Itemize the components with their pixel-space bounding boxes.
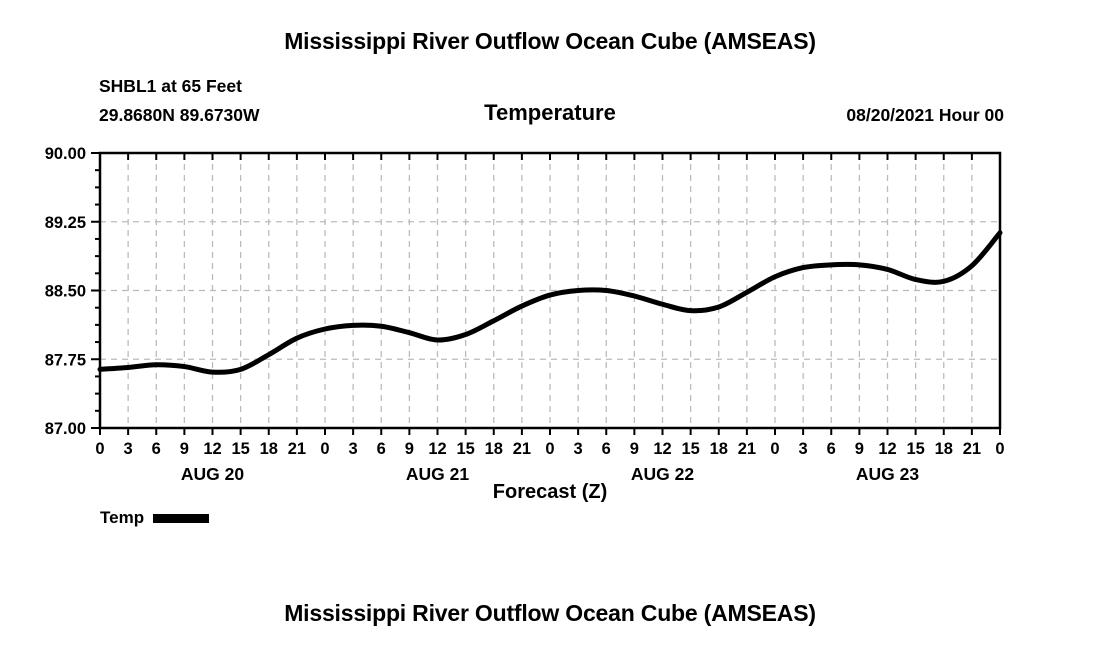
x-tick-label: 9 [180, 440, 189, 458]
x-tick-label: 18 [935, 440, 953, 458]
x-tick-label: 6 [602, 440, 611, 458]
x-tick-label: 0 [320, 440, 329, 458]
legend-swatch-temp [153, 514, 209, 523]
x-tick-label: 9 [855, 440, 864, 458]
x-tick-label: 12 [878, 440, 896, 458]
x-tick-label: 18 [260, 440, 278, 458]
x-tick-label: 15 [456, 440, 474, 458]
x-tick-label: 12 [203, 440, 221, 458]
x-tick-label: 6 [377, 440, 386, 458]
x-tick-label: 15 [681, 440, 699, 458]
gridlines [100, 153, 1000, 428]
chart-page: Mississippi River Outflow Ocean Cube (AM… [0, 0, 1100, 650]
x-tick-label: 15 [231, 440, 249, 458]
x-tick-label: 9 [630, 440, 639, 458]
page-title-bottom: Mississippi River Outflow Ocean Cube (AM… [0, 600, 1100, 627]
legend-label-temp: Temp [100, 508, 144, 528]
x-tick-label: 0 [770, 440, 779, 458]
x-tick-label: 15 [906, 440, 924, 458]
x-tick-label: 3 [124, 440, 133, 458]
x-tick-label: 0 [95, 440, 104, 458]
legend: Temp [100, 508, 209, 528]
x-tick-label: 3 [574, 440, 583, 458]
x-tick-label: 12 [428, 440, 446, 458]
y-tick-label: 87.00 [45, 420, 86, 438]
x-tick-label: 0 [995, 440, 1004, 458]
chart-plot: 87.0087.7588.5089.2590.00 03691215182103… [0, 0, 1100, 650]
x-tick-label: 0 [545, 440, 554, 458]
x-axis-label: Forecast (Z) [0, 481, 1100, 504]
y-tick-label: 88.50 [45, 283, 86, 301]
x-tick-label: 18 [710, 440, 728, 458]
x-tick-label: 6 [827, 440, 836, 458]
y-tick-label: 90.00 [45, 145, 86, 163]
y-axis-ticks: 87.0087.7588.5089.2590.00 [45, 145, 100, 438]
y-tick-label: 89.25 [45, 214, 86, 232]
x-tick-label: 18 [485, 440, 503, 458]
x-tick-label: 6 [152, 440, 161, 458]
x-tick-label: 9 [405, 440, 414, 458]
y-tick-label: 87.75 [45, 351, 86, 369]
x-tick-label: 12 [653, 440, 671, 458]
x-tick-label: 21 [513, 440, 531, 458]
x-tick-label: 3 [349, 440, 358, 458]
x-tick-label: 21 [288, 440, 306, 458]
x-tick-label: 3 [799, 440, 808, 458]
x-tick-label: 21 [738, 440, 756, 458]
x-tick-label: 21 [963, 440, 981, 458]
